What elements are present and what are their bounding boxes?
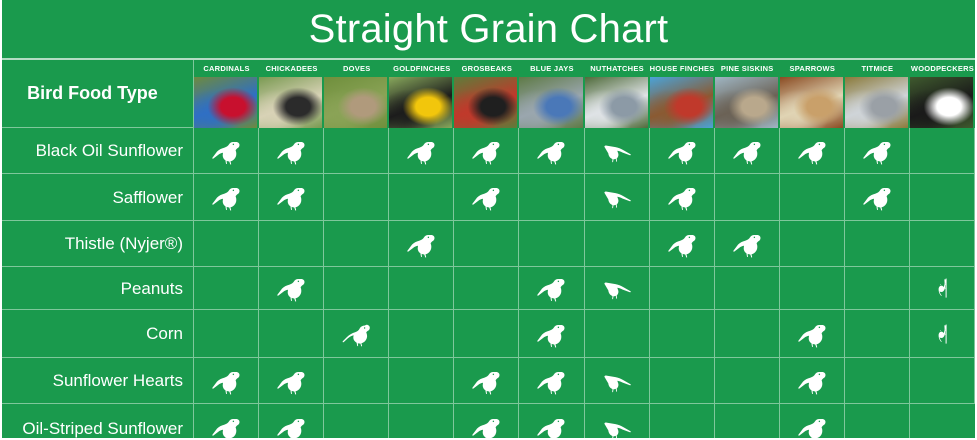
cell-corn-blue_jays — [519, 310, 584, 358]
cell-peanuts-blue_jays — [519, 267, 584, 310]
perched-bird-silhouette — [534, 413, 568, 440]
cell-thistle_nyjer-doves — [324, 221, 389, 267]
bird-photo-goldfinches — [389, 77, 452, 128]
bird-photo-cell-titmice — [845, 77, 910, 128]
row-label-black_oil_sunflower: Black Oil Sunflower — [2, 128, 194, 174]
cell-corn-titmice — [845, 310, 910, 358]
perched-bird-silhouette — [534, 136, 568, 166]
bird-photo-cardinals — [194, 77, 257, 128]
cell-corn-doves — [324, 310, 389, 358]
bird-photo-cell-woodpeckers — [910, 77, 975, 128]
bird-photo-cell-goldfinches — [389, 77, 454, 128]
perched-bird-silhouette — [274, 273, 308, 303]
cell-black_oil_sunflower-pine_siskins — [715, 128, 780, 174]
column-header-chickadees: CHICKADEES — [259, 60, 324, 77]
cell-thistle_nyjer-goldfinches — [389, 221, 454, 267]
perched-bird-silhouette — [860, 136, 894, 166]
bird-photo-pine_siskins — [715, 77, 778, 128]
cell-corn-cardinals — [194, 310, 259, 358]
cell-safflower-goldfinches — [389, 174, 454, 221]
perched-bird-silhouette — [209, 366, 243, 396]
bird-photo-house_finches — [650, 77, 713, 128]
cell-sunflower_hearts-sparrows — [780, 358, 845, 404]
column-header-label: GOLDFINCHES — [393, 65, 450, 73]
cell-corn-house_finches — [650, 310, 715, 358]
cell-sunflower_hearts-doves — [324, 358, 389, 404]
bird-photo-cell-chickadees — [259, 77, 324, 128]
cell-thistle_nyjer-woodpeckers — [910, 221, 975, 267]
perched-bird-silhouette — [469, 413, 503, 440]
column-header-label: CHICKADEES — [266, 65, 318, 73]
column-header-label: TITMICE — [861, 65, 893, 73]
row-label-oil_striped_sunflower: Oil-Striped Sunflower — [2, 404, 194, 440]
bird-photo-nuthatches — [585, 77, 648, 128]
nuthatch-silhouette — [600, 273, 634, 303]
bird-photo-cell-house_finches — [650, 77, 715, 128]
cell-oil_striped_sunflower-nuthatches — [585, 404, 650, 440]
cell-black_oil_sunflower-doves — [324, 128, 389, 174]
cell-black_oil_sunflower-goldfinches — [389, 128, 454, 174]
cell-peanuts-woodpeckers — [910, 267, 975, 310]
column-header-label: NUTHATCHES — [590, 65, 644, 73]
perched-bird-silhouette — [274, 413, 308, 440]
perched-bird-silhouette — [469, 136, 503, 166]
bird-photo-titmice — [845, 77, 908, 128]
cell-safflower-sparrows — [780, 174, 845, 221]
column-header-nuthatches: NUTHATCHES — [585, 60, 650, 77]
cell-oil_striped_sunflower-sparrows — [780, 404, 845, 440]
bird-photo-grosbeaks — [454, 77, 517, 128]
column-header-woodpeckers: WOODPECKERS — [910, 60, 975, 77]
cell-corn-grosbeaks — [454, 310, 519, 358]
perched-bird-silhouette — [665, 182, 699, 212]
column-header-label: PINE SISKINS — [721, 65, 774, 73]
cell-black_oil_sunflower-titmice — [845, 128, 910, 174]
perched-bird-silhouette — [795, 319, 829, 349]
column-header-label: HOUSE FINCHES — [650, 65, 715, 73]
nuthatch-silhouette — [600, 413, 634, 440]
perched-bird-silhouette — [534, 366, 568, 396]
row-label-peanuts: Peanuts — [2, 267, 194, 310]
cell-sunflower_hearts-chickadees — [259, 358, 324, 404]
cell-thistle_nyjer-blue_jays — [519, 221, 584, 267]
cell-corn-woodpeckers — [910, 310, 975, 358]
column-header-label: SPARROWS — [789, 65, 835, 73]
cell-sunflower_hearts-nuthatches — [585, 358, 650, 404]
cell-oil_striped_sunflower-goldfinches — [389, 404, 454, 440]
cell-peanuts-cardinals — [194, 267, 259, 310]
perched-bird-silhouette — [274, 182, 308, 212]
perched-bird-silhouette — [730, 136, 764, 166]
cell-black_oil_sunflower-cardinals — [194, 128, 259, 174]
column-header-grosbeaks: GROSBEAKS — [454, 60, 519, 77]
column-header-cardinals: CARDINALS — [194, 60, 259, 77]
perched-bird-silhouette — [209, 136, 243, 166]
bird-photo-cell-nuthatches — [585, 77, 650, 128]
cell-black_oil_sunflower-chickadees — [259, 128, 324, 174]
nuthatch-silhouette — [600, 366, 634, 396]
nuthatch-silhouette — [600, 136, 634, 166]
column-header-label: WOODPECKERS — [911, 65, 974, 73]
cell-safflower-nuthatches — [585, 174, 650, 221]
perched-bird-silhouette — [795, 413, 829, 440]
perched-bird-silhouette — [209, 413, 243, 440]
cell-sunflower_hearts-pine_siskins — [715, 358, 780, 404]
column-header-house_finches: HOUSE FINCHES — [650, 60, 715, 77]
cell-safflower-titmice — [845, 174, 910, 221]
straight-grain-chart: Straight Grain Chart Bird Food TypeCARDI… — [0, 0, 977, 440]
row-label-text: Oil-Striped Sunflower — [22, 420, 183, 437]
cell-safflower-cardinals — [194, 174, 259, 221]
cell-oil_striped_sunflower-blue_jays — [519, 404, 584, 440]
bird-photo-chickadees — [259, 77, 322, 128]
cell-safflower-doves — [324, 174, 389, 221]
cell-safflower-blue_jays — [519, 174, 584, 221]
row-label-text: Black Oil Sunflower — [36, 142, 183, 159]
bird-photo-cell-sparrows — [780, 77, 845, 128]
cell-corn-sparrows — [780, 310, 845, 358]
cell-peanuts-house_finches — [650, 267, 715, 310]
cell-black_oil_sunflower-blue_jays — [519, 128, 584, 174]
row-label-text: Safflower — [112, 189, 183, 206]
bird-photo-cell-pine_siskins — [715, 77, 780, 128]
cell-thistle_nyjer-house_finches — [650, 221, 715, 267]
chart-title-bar: Straight Grain Chart — [2, 0, 975, 58]
perched-bird-silhouette — [534, 319, 568, 349]
column-header-sparrows: SPARROWS — [780, 60, 845, 77]
bird-photo-doves — [324, 77, 387, 128]
cell-oil_striped_sunflower-titmice — [845, 404, 910, 440]
cell-sunflower_hearts-cardinals — [194, 358, 259, 404]
perched-bird-silhouette — [209, 182, 243, 212]
perched-bird-silhouette — [860, 182, 894, 212]
bird-food-type-label: Bird Food Type — [27, 83, 168, 104]
cell-black_oil_sunflower-nuthatches — [585, 128, 650, 174]
perched-bird-silhouette — [795, 366, 829, 396]
cell-oil_striped_sunflower-cardinals — [194, 404, 259, 440]
page-title: Straight Grain Chart — [309, 9, 669, 49]
cell-oil_striped_sunflower-pine_siskins — [715, 404, 780, 440]
row-label-text: Thistle (Nyjer®) — [65, 235, 183, 252]
bird-photo-blue_jays — [519, 77, 582, 128]
column-header-label: GROSBEAKS — [462, 65, 513, 73]
column-header-label: DOVES — [343, 65, 371, 73]
perched-bird-silhouette — [534, 273, 568, 303]
row-label-sunflower_hearts: Sunflower Hearts — [2, 358, 194, 404]
column-header-blue_jays: BLUE JAYS — [519, 60, 584, 77]
bird-photo-cell-blue_jays — [519, 77, 584, 128]
column-header-pine_siskins: PINE SISKINS — [715, 60, 780, 77]
bird-photo-cell-doves — [324, 77, 389, 128]
nuthatch-silhouette — [600, 182, 634, 212]
perched-bird-silhouette — [274, 366, 308, 396]
cell-oil_striped_sunflower-grosbeaks — [454, 404, 519, 440]
perched-bird-silhouette — [469, 182, 503, 212]
cell-sunflower_hearts-woodpeckers — [910, 358, 975, 404]
row-label-text: Corn — [146, 325, 183, 342]
row-label-corn: Corn — [2, 310, 194, 358]
chart-grid: Bird Food TypeCARDINALSCHICKADEESDOVESGO… — [2, 60, 975, 440]
cell-peanuts-grosbeaks — [454, 267, 519, 310]
cell-thistle_nyjer-titmice — [845, 221, 910, 267]
cell-peanuts-doves — [324, 267, 389, 310]
cell-peanuts-titmice — [845, 267, 910, 310]
woodpecker-on-trunk-silhouette — [932, 269, 952, 307]
column-header-titmice: TITMICE — [845, 60, 910, 77]
cell-peanuts-goldfinches — [389, 267, 454, 310]
perched-bird-silhouette — [274, 136, 308, 166]
column-header-doves: DOVES — [324, 60, 389, 77]
cell-sunflower_hearts-goldfinches — [389, 358, 454, 404]
cell-thistle_nyjer-nuthatches — [585, 221, 650, 267]
cell-black_oil_sunflower-sparrows — [780, 128, 845, 174]
bird-photo-woodpeckers — [910, 77, 973, 128]
perched-bird-silhouette — [795, 136, 829, 166]
cell-sunflower_hearts-blue_jays — [519, 358, 584, 404]
bird-photo-cell-cardinals — [194, 77, 259, 128]
cell-black_oil_sunflower-house_finches — [650, 128, 715, 174]
cell-safflower-grosbeaks — [454, 174, 519, 221]
cell-black_oil_sunflower-grosbeaks — [454, 128, 519, 174]
perched-bird-silhouette — [730, 229, 764, 259]
cell-peanuts-sparrows — [780, 267, 845, 310]
column-header-label: BLUE JAYS — [530, 65, 574, 73]
dove-silhouette — [339, 319, 373, 349]
cell-thistle_nyjer-grosbeaks — [454, 221, 519, 267]
cell-peanuts-chickadees — [259, 267, 324, 310]
row-label-safflower: Safflower — [2, 174, 194, 221]
cell-peanuts-pine_siskins — [715, 267, 780, 310]
perched-bird-silhouette — [665, 229, 699, 259]
perched-bird-silhouette — [404, 136, 438, 166]
woodpecker-on-trunk-silhouette — [932, 315, 952, 353]
perched-bird-silhouette — [469, 366, 503, 396]
cell-safflower-woodpeckers — [910, 174, 975, 221]
cell-corn-nuthatches — [585, 310, 650, 358]
perched-bird-silhouette — [665, 136, 699, 166]
cell-thistle_nyjer-sparrows — [780, 221, 845, 267]
cell-safflower-house_finches — [650, 174, 715, 221]
bird-photo-cell-grosbeaks — [454, 77, 519, 128]
cell-corn-pine_siskins — [715, 310, 780, 358]
cell-thistle_nyjer-cardinals — [194, 221, 259, 267]
cell-safflower-pine_siskins — [715, 174, 780, 221]
column-header-goldfinches: GOLDFINCHES — [389, 60, 454, 77]
cell-oil_striped_sunflower-chickadees — [259, 404, 324, 440]
cell-sunflower_hearts-house_finches — [650, 358, 715, 404]
cell-sunflower_hearts-titmice — [845, 358, 910, 404]
cell-thistle_nyjer-pine_siskins — [715, 221, 780, 267]
cell-peanuts-nuthatches — [585, 267, 650, 310]
cell-oil_striped_sunflower-woodpeckers — [910, 404, 975, 440]
perched-bird-silhouette — [404, 229, 438, 259]
cell-black_oil_sunflower-woodpeckers — [910, 128, 975, 174]
cell-oil_striped_sunflower-doves — [324, 404, 389, 440]
corner-header-cell: Bird Food Type — [2, 60, 194, 128]
cell-sunflower_hearts-grosbeaks — [454, 358, 519, 404]
row-label-text: Peanuts — [121, 280, 183, 297]
row-label-thistle_nyjer: Thistle (Nyjer®) — [2, 221, 194, 267]
cell-thistle_nyjer-chickadees — [259, 221, 324, 267]
column-header-label: CARDINALS — [203, 65, 249, 73]
bird-photo-sparrows — [780, 77, 843, 128]
cell-corn-chickadees — [259, 310, 324, 358]
cell-corn-goldfinches — [389, 310, 454, 358]
row-label-text: Sunflower Hearts — [53, 372, 183, 389]
cell-safflower-chickadees — [259, 174, 324, 221]
cell-oil_striped_sunflower-house_finches — [650, 404, 715, 440]
